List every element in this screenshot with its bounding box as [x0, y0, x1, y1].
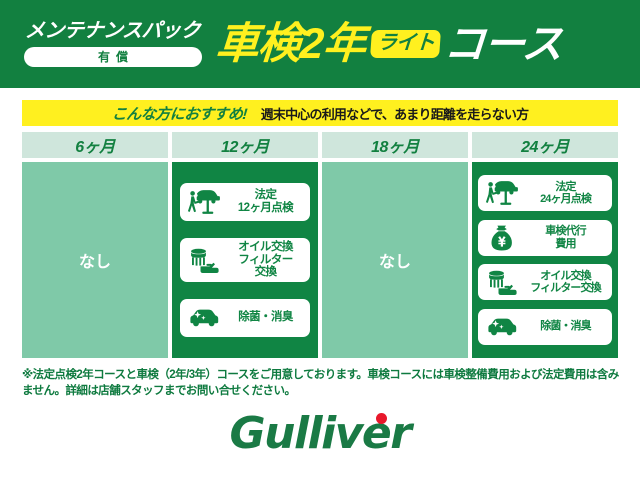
- maintenance-pack-block: メンテナンスパック 有償: [24, 21, 202, 67]
- table-column-18ヶ月: 18ヶ月なし: [322, 132, 468, 358]
- car-sanitize-icon: [187, 306, 221, 330]
- paid-badge-label: 有償: [92, 51, 134, 63]
- recommendation-description: 週末中心の利用などで、あまり距離を走らない方: [261, 104, 529, 123]
- oil-filter-change-icon: [185, 245, 223, 275]
- no-service-label: なし: [79, 248, 111, 272]
- column-body: 法定 24ヶ月点検車検代行 費用オイル交換 フィルター交換除菌・消臭: [472, 162, 618, 358]
- car-lift-inspection-icon: [485, 179, 519, 207]
- recommendation-title: こんな方におすすめ!: [111, 103, 248, 124]
- oil-filter-change-icon: [187, 246, 221, 274]
- service-item: オイル交換 フィルター交換: [478, 264, 612, 300]
- gulliver-logo: Gulliver: [230, 412, 411, 456]
- service-item: 車検代行 費用: [478, 220, 612, 256]
- car-sanitize-icon: [185, 303, 223, 333]
- service-item: 法定 12ヶ月点検: [180, 183, 310, 221]
- service-item-label: 法定 24ヶ月点検: [521, 181, 610, 206]
- car-lift-inspection-icon: [187, 188, 221, 216]
- car-sanitize-icon: [485, 315, 519, 339]
- paid-badge: 有償: [24, 47, 202, 67]
- oil-filter-change-icon: [483, 267, 521, 297]
- service-item-label: 除菌・消臭: [521, 320, 610, 332]
- service-item: 除菌・消臭: [180, 299, 310, 337]
- column-header: 6ヶ月: [22, 132, 168, 158]
- table-column-6ヶ月: 6ヶ月なし: [22, 132, 168, 358]
- maintenance-pack-title: メンテナンスパック: [25, 21, 201, 41]
- service-item-label: 車検代行 費用: [521, 225, 610, 250]
- column-body: なし: [322, 162, 468, 358]
- car-lift-inspection-icon: [483, 178, 521, 208]
- column-body: 法定 12ヶ月点検オイル交換 フィルター 交換除菌・消臭: [172, 162, 318, 358]
- service-item-label: オイル交換 フィルター 交換: [223, 241, 308, 280]
- column-header: 18ヶ月: [322, 132, 468, 158]
- recommendation-banner: こんな方におすすめ! 週末中心の利用などで、あまり距離を走らない方: [22, 100, 618, 126]
- money-bag-yen-icon: [483, 223, 521, 253]
- oil-filter-change-icon: [485, 268, 519, 296]
- service-item: 法定 24ヶ月点検: [478, 175, 612, 211]
- column-header: 12ヶ月: [172, 132, 318, 158]
- brand-logo-area: Gulliver: [0, 412, 640, 456]
- footnote-text: ※法定点検2年コースと車検（2年/3年）コースをご用意しております。車検コースに…: [22, 367, 622, 400]
- course-suffix-title: コース: [442, 24, 563, 65]
- light-course-badge: ライト: [370, 30, 441, 58]
- service-item: オイル交換 フィルター 交換: [180, 238, 310, 283]
- table-column-12ヶ月: 12ヶ月法定 12ヶ月点検オイル交換 フィルター 交換除菌・消臭: [172, 132, 318, 358]
- course-title-block: 車検2年 ライト コース: [216, 23, 562, 66]
- column-body: なし: [22, 162, 168, 358]
- service-item-label: オイル交換 フィルター交換: [521, 270, 610, 295]
- maintenance-schedule-table: 6ヶ月なし12ヶ月法定 12ヶ月点検オイル交換 フィルター 交換除菌・消臭18ヶ…: [22, 132, 618, 358]
- money-bag-yen-icon: [487, 224, 517, 252]
- column-header: 24ヶ月: [472, 132, 618, 158]
- service-item-label: 除菌・消臭: [223, 311, 308, 324]
- course-main-title: 車検2年: [214, 23, 366, 66]
- table-column-24ヶ月: 24ヶ月法定 24ヶ月点検車検代行 費用オイル交換 フィルター交換除菌・消臭: [472, 132, 618, 358]
- no-service-label: なし: [379, 248, 411, 272]
- car-lift-inspection-icon: [185, 187, 223, 217]
- header-bar: メンテナンスパック 有償 車検2年 ライト コース: [0, 0, 640, 88]
- gulliver-logo-dot-icon: [376, 413, 387, 424]
- car-sanitize-icon: [483, 312, 521, 342]
- service-item-label: 法定 12ヶ月点検: [223, 189, 308, 215]
- service-item: 除菌・消臭: [478, 309, 612, 345]
